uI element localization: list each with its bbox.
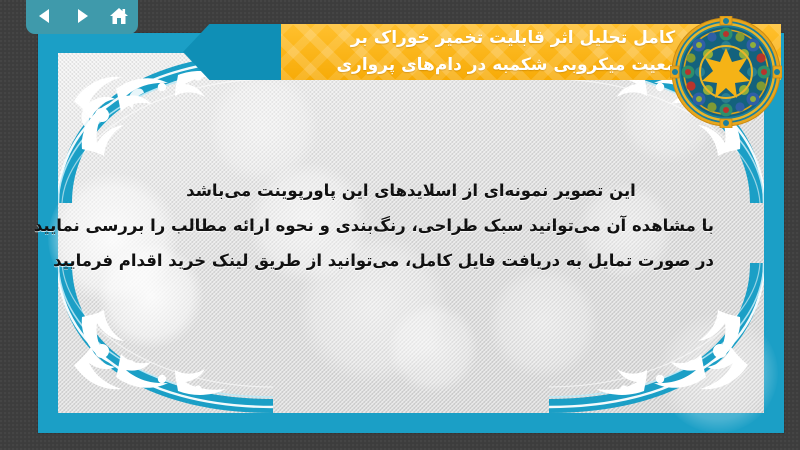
bokeh-highlight [208, 73, 318, 183]
right-arrow-icon [73, 7, 91, 25]
bokeh-highlight [488, 268, 598, 378]
bokeh-highlight [658, 313, 778, 433]
navigation-toolbar[interactable] [26, 0, 138, 34]
left-arrow-icon [36, 7, 54, 25]
body-line: با مشاهده آن می‌توانید سبک طراحی، رنگ‌بن… [108, 208, 714, 243]
home-icon [109, 6, 129, 26]
slide-root: این تصویر نمونه‌ای از اسلایدهای این پاور… [0, 0, 800, 450]
bokeh-highlight [388, 303, 478, 393]
body-line: این تصویر نمونه‌ای از اسلایدهای این پاور… [108, 173, 714, 208]
page-title-second-line: جمعیت میکروبی شکمبه در دام‌های پرواری [336, 52, 725, 79]
body-line: در صورت تمایل به دریافت فایل کامل، می‌تو… [108, 243, 714, 278]
home-button[interactable] [106, 3, 132, 29]
page-title: کامل تحلیل اثر قابلیت تخمیر خوراک بر [351, 25, 711, 52]
next-slide-button[interactable] [69, 3, 95, 29]
slide-body-text: این تصویر نمونه‌ای از اسلایدهای این پاور… [108, 173, 714, 278]
previous-slide-button[interactable] [32, 3, 58, 29]
persian-medallion-icon [670, 16, 782, 128]
